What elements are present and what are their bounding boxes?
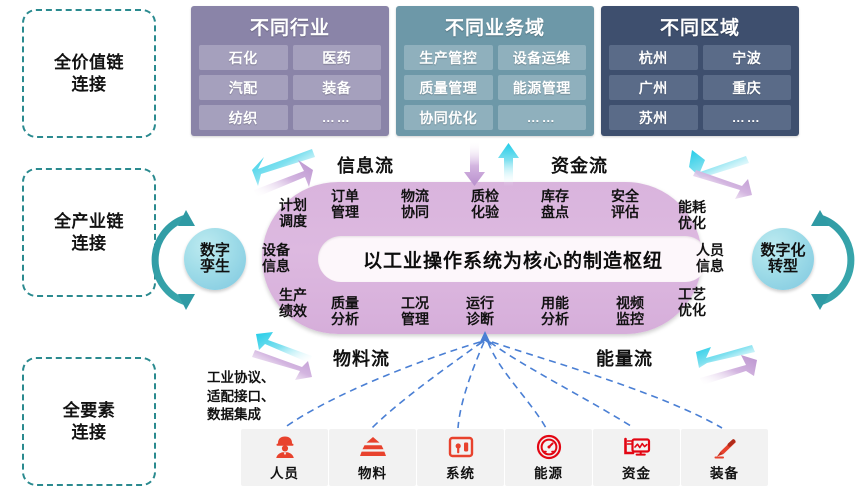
hub-item-equipment-info: 设备 信息: [262, 243, 290, 274]
hub-item-inventory-count: 库存 盘点: [541, 189, 569, 220]
badge-line2: 转型: [768, 259, 798, 276]
hub-item-quality-analysis: 质量 分析: [331, 296, 359, 327]
badge-line1: 数字: [200, 243, 230, 260]
hub-item-production-performance: 生产 绩效: [279, 288, 307, 319]
fan-apex-arrow: [478, 331, 492, 346]
hub-item-safety-assessment: 安全 评估: [611, 189, 639, 220]
hub-core-label: 以工业操作系统为核心的制造枢纽: [318, 236, 708, 282]
badge-digital-twin: 数字 孪生: [184, 228, 246, 290]
element-fan-lines: [284, 342, 722, 428]
hub-item-condition-mgmt: 工况 管理: [401, 296, 429, 327]
badge-line1: 数字化: [760, 243, 805, 260]
badge-digital-transformation: 数字化 转型: [752, 228, 814, 290]
hub-item-logistics-coord: 物流 协同: [401, 189, 429, 220]
hub-item-quality-inspection: 质检 化验: [471, 189, 499, 220]
hub-item-order-mgmt: 订单 管理: [331, 189, 359, 220]
hub-item-personnel-info: 人员 信息: [696, 243, 724, 274]
hub-item-plan-schedule: 计划 调度: [279, 198, 307, 229]
arrow-up-cyan-center: [498, 143, 519, 186]
hub-item-video-monitoring: 视频 监控: [616, 296, 644, 327]
right-rotation-arrow: [811, 210, 851, 310]
hub-item-energy-optimization: 能耗 优化: [678, 200, 706, 231]
diagram-canvas: 全价值链 连接 全产业链 连接 全要素 连接 不同行业 石化 医药 汽配 装备 …: [0, 0, 864, 490]
arrow-down-right-purple: [693, 170, 752, 199]
hub-item-operation-diagnosis: 运行 诊断: [466, 296, 494, 327]
arrow-down-purple-center: [464, 141, 485, 186]
badge-line2: 孪生: [200, 259, 230, 276]
hub-item-energy-use-analysis: 用能 分析: [541, 296, 569, 327]
hub-item-process-optimization: 工艺 优化: [678, 287, 706, 318]
